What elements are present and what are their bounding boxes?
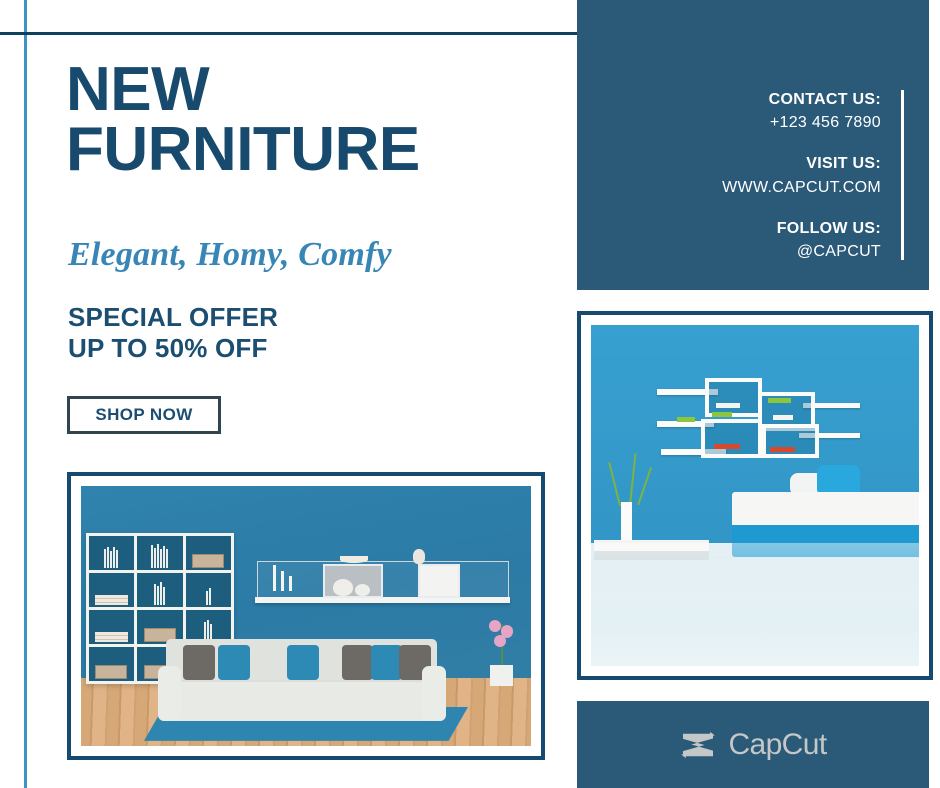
bedroom-photo-frame [577, 311, 933, 680]
bookcase-cell [89, 536, 135, 570]
bookcase-cell [137, 573, 183, 607]
decorative-twigs [611, 451, 650, 506]
bookcase-cell [186, 573, 232, 607]
contact-group-social: FOLLOW US: @CAPCUT [722, 217, 881, 263]
living-room-photo-frame [67, 472, 545, 760]
left-content-column: NEW FURNITURE Elegant, Homy, Comfy SPECI… [0, 0, 576, 788]
shelf-sphere [355, 584, 370, 597]
headline-line-1: NEW [66, 55, 209, 124]
special-offer-text: SPECIAL OFFER UP TO 50% OFF [68, 302, 278, 363]
shelf-vase [413, 549, 426, 564]
contact-group-phone: CONTACT US: +123 456 7890 [722, 88, 881, 134]
brand-logo-panel: CapCut [577, 701, 929, 788]
contact-panel: CONTACT US: +123 456 7890 VISIT US: WWW.… [577, 0, 929, 290]
daybed [732, 492, 919, 557]
brand-name: CapCut [728, 728, 826, 762]
follow-us-label: FOLLOW US: [722, 217, 881, 240]
shelf-bowl [340, 556, 368, 563]
shelf-box-white [418, 564, 461, 598]
headline-line-2: FURNITURE [66, 120, 566, 180]
subheadline: Elegant, Homy, Comfy [68, 236, 392, 274]
potted-orchid [482, 619, 523, 687]
poster-canvas: NEW FURNITURE Elegant, Homy, Comfy SPECI… [0, 0, 940, 788]
offer-line-1: SPECIAL OFFER [68, 302, 278, 333]
offer-line-2: UP TO 50% OFF [68, 333, 278, 364]
visit-us-label: VISIT US: [722, 152, 881, 175]
shop-now-button[interactable]: SHOP NOW [67, 396, 221, 434]
bedroom-photo [591, 325, 919, 666]
bookcase-cell [89, 647, 135, 681]
phone-number[interactable]: +123 456 7890 [722, 111, 881, 134]
bookcase-cell [186, 536, 232, 570]
social-handle[interactable]: @CAPCUT [722, 240, 881, 263]
geometric-wall-shelves [657, 373, 860, 462]
contact-divider-line [901, 90, 904, 260]
shelf-box-gray [323, 564, 383, 598]
contact-us-label: CONTACT US: [722, 88, 881, 111]
living-room-photo [81, 486, 531, 746]
floor-vase [621, 502, 633, 540]
bookcase-cell [89, 610, 135, 644]
low-bench [594, 540, 709, 560]
shelf-sphere [333, 579, 353, 596]
contact-group-website: VISIT US: WWW.CAPCUT.COM [722, 152, 881, 198]
website-url[interactable]: WWW.CAPCUT.COM [722, 176, 881, 199]
sofa [158, 639, 446, 727]
contact-details: CONTACT US: +123 456 7890 VISIT US: WWW.… [722, 88, 881, 263]
capcut-hourglass-icon [679, 730, 717, 760]
shelf-candles [273, 565, 292, 591]
page-title: NEW FURNITURE [66, 60, 566, 180]
bookcase-cell [137, 536, 183, 570]
wall-shelf [257, 561, 509, 600]
bedroom-floor [591, 543, 919, 666]
bookcase-cell [89, 573, 135, 607]
